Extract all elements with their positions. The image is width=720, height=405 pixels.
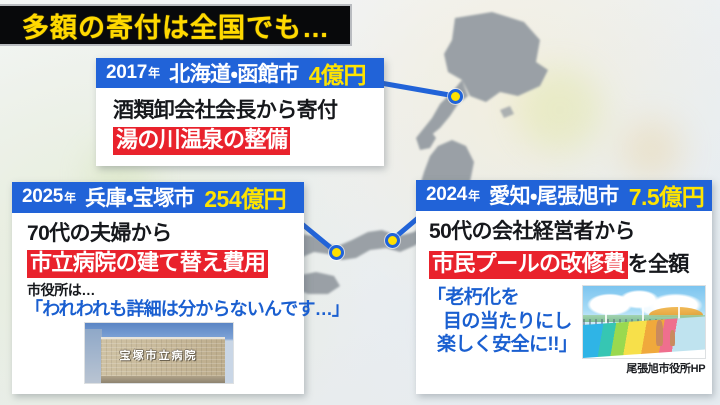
card-owariasahi-body: 50代の会社経営者から 市民プールの改修費を全額 「老朽化を 目の当たりにし 楽… <box>416 211 712 383</box>
card-takarazuka-amount: 254億円 <box>204 182 286 213</box>
card-hakodate-use: 湯の川温泉の整備 <box>113 127 290 155</box>
card-hakodate-year: 2017 <box>106 62 147 84</box>
card-owariasahi-year-suffix: 年 <box>468 187 480 204</box>
card-owariasahi-use: 市民プールの改修費 <box>429 251 628 279</box>
card-owariasahi-quote-line-2: 目の当たりにし <box>443 310 577 334</box>
card-hakodate[interactable]: 2017 年 北海道・函館市 4億円 酒類卸会社会長から寄付 湯の川温泉の整備 <box>96 58 384 166</box>
news-graphic-stage: 多額の寄付は全国でも… 2017 年 北海道・函館市 4億円 酒類卸会社会長から… <box>0 0 720 405</box>
card-owariasahi[interactable]: 2024 年 愛知・尾張旭市 7.5億円 50代の会社経営者から 市民プールの改… <box>416 180 712 394</box>
pool-photo <box>583 286 705 358</box>
card-owariasahi-quote-line-3: 楽しく安全に!!」 <box>437 333 577 357</box>
headline-text: 多額の寄付は全国でも… <box>0 6 330 45</box>
hospital-photo-sign: 宝塚市立病院 <box>85 347 233 363</box>
card-takarazuka-body: 70代の夫婦から 市立病院の建て替え費用 市役所は… 「われわれも詳細は分からな… <box>12 213 304 390</box>
pool-photo-credit: 尾張旭市役所HP <box>583 360 705 376</box>
card-takarazuka-year: 2025 <box>22 186 63 208</box>
card-takarazuka-note-label: 市役所は… <box>27 283 296 298</box>
card-takarazuka-note-quote: 「われわれも詳細は分からないんです…」 <box>25 299 296 319</box>
card-owariasahi-donor: 50代の会社経営者から <box>429 220 704 244</box>
card-hakodate-body: 酒類卸会社会長から寄付 湯の川温泉の整備 <box>96 88 384 162</box>
marker-hakodate[interactable] <box>448 89 463 104</box>
card-takarazuka-donor: 70代の夫婦から <box>27 222 296 246</box>
pool-photo-post-left <box>605 304 607 323</box>
hospital-photo: 宝塚市立病院 <box>85 323 233 383</box>
hospital-photo-base <box>101 376 225 383</box>
card-takarazuka-place: 兵庫・宝塚市 <box>85 182 194 212</box>
card-hakodate-donor: 酒類卸会社会長から寄付 <box>113 99 376 123</box>
card-owariasahi-amount: 7.5億円 <box>629 180 704 211</box>
card-owariasahi-header: 2024 年 愛知・尾張旭市 7.5億円 <box>416 180 712 211</box>
pool-photo-figure-child <box>670 330 675 346</box>
marker-owariasahi[interactable] <box>385 233 400 248</box>
card-hakodate-year-suffix: 年 <box>148 64 160 81</box>
card-owariasahi-use-tail: を全額 <box>628 253 689 276</box>
card-hakodate-header: 2017 年 北海道・函館市 4億円 <box>96 58 384 88</box>
card-owariasahi-year: 2024 <box>426 184 467 206</box>
card-takarazuka-year-suffix: 年 <box>64 189 76 206</box>
card-owariasahi-place: 愛知・尾張旭市 <box>489 180 619 210</box>
card-takarazuka-header: 2025 年 兵庫・宝塚市 254億円 <box>12 182 304 213</box>
headline-bar: 多額の寄付は全国でも… <box>0 4 352 46</box>
card-hakodate-place: 北海道・函館市 <box>169 58 299 88</box>
card-takarazuka-use: 市立病院の建て替え費用 <box>27 250 268 278</box>
card-owariasahi-quote: 「老朽化を 目の当たりにし 楽しく安全に!!」 <box>425 286 577 357</box>
card-owariasahi-quote-line-1: 「老朽化を <box>427 286 577 310</box>
card-takarazuka[interactable]: 2025 年 兵庫・宝塚市 254億円 70代の夫婦から 市立病院の建て替え費用… <box>12 182 304 394</box>
marker-takarazuka[interactable] <box>329 245 344 260</box>
pool-photo-figure-adult <box>656 320 663 346</box>
card-hakodate-amount: 4億円 <box>309 58 366 88</box>
